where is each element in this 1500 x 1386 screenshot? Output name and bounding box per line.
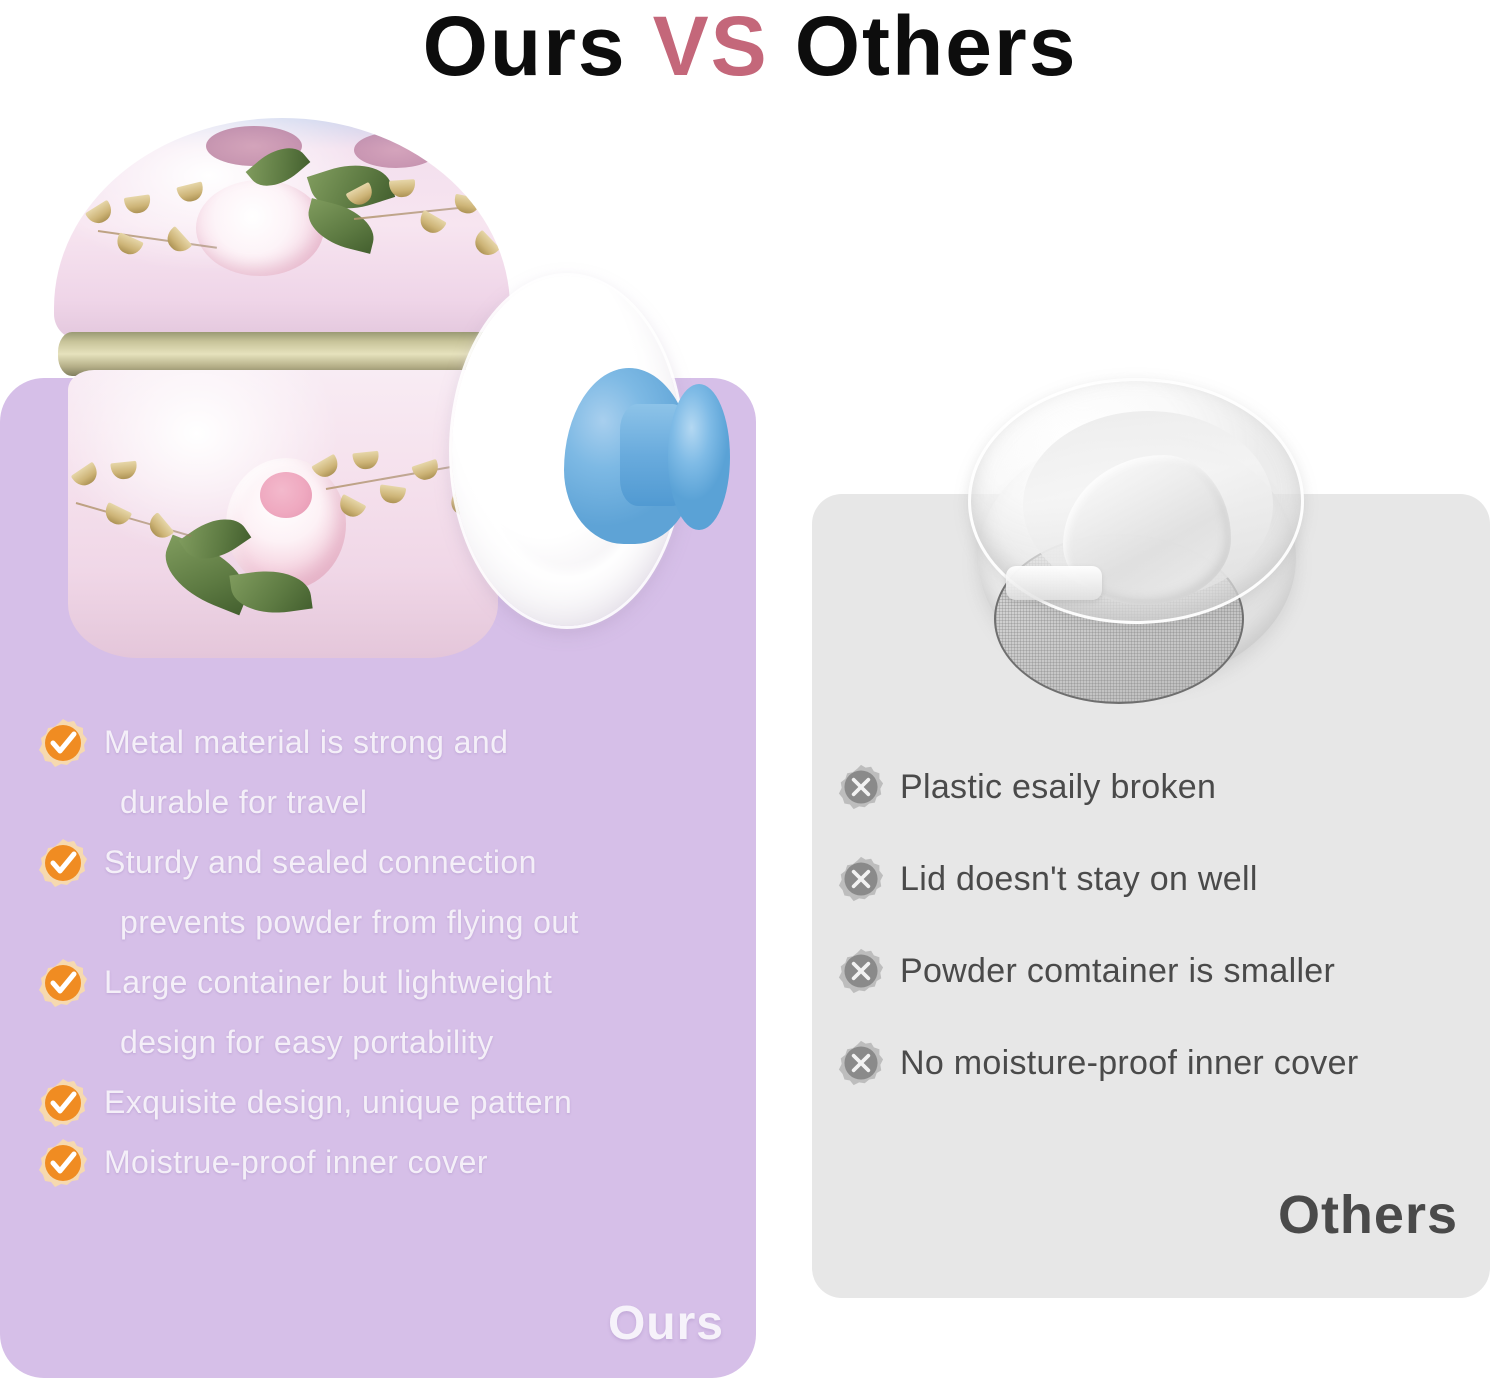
gold-fan-motif [101, 502, 132, 529]
check-badge-icon [38, 958, 88, 1008]
list-item-label: No moisture-proof inner cover [900, 1044, 1358, 1082]
list-item-line1: Exquisite design, unique pattern [104, 1084, 572, 1120]
gold-fan-motif [85, 200, 116, 228]
stem [76, 502, 192, 537]
list-item-label: Powder comtainer is smaller [900, 952, 1335, 990]
title-others: Others [795, 0, 1078, 93]
plastic-lid-tab [1006, 566, 1102, 600]
check-badge-icon [38, 1138, 88, 1188]
list-item-label: Lid doesn't stay on well [900, 860, 1258, 898]
list-item: Powder comtainer is smaller [838, 946, 1468, 996]
title-vs: VS [653, 0, 769, 93]
gold-fan-motif [470, 230, 500, 261]
cross-badge-icon [838, 856, 884, 902]
list-item: Metal material is strong and durable for… [38, 712, 738, 832]
others-product-image [960, 372, 1320, 712]
check-badge-icon [38, 1078, 88, 1128]
comparison-infographic: OursVSOthers [0, 0, 1500, 1386]
check-badge-icon [38, 838, 88, 888]
powder-puff-image [452, 276, 752, 648]
ours-footer-label: Ours [0, 1296, 724, 1351]
cross-badge-icon [838, 764, 884, 810]
list-item: Lid doesn't stay on well [838, 854, 1468, 904]
gold-fan-motif [352, 451, 380, 471]
list-item: Moistrue-proof inner cover [38, 1132, 738, 1192]
list-item: Sturdy and sealed connection prevents po… [38, 832, 738, 952]
gold-fan-motif [452, 194, 481, 216]
list-item-line2: design for easy portability [104, 1012, 738, 1072]
list-item-line1: Moistrue-proof inner cover [104, 1144, 488, 1180]
list-item-line2: durable for travel [104, 772, 738, 832]
gold-fan-motif [411, 459, 441, 483]
list-item: Plastic esaily broken [838, 762, 1468, 812]
cross-badge-icon [838, 1040, 884, 1086]
gold-fan-motif [71, 462, 102, 491]
ours-product-image [46, 118, 516, 658]
cross-badge-icon [838, 948, 884, 994]
list-item-line2: prevents powder from flying out [104, 892, 738, 952]
tin-lid [54, 118, 510, 340]
list-item: Exquisite design, unique pattern [38, 1072, 738, 1132]
gold-fan-motif [378, 484, 406, 504]
gold-fan-motif [110, 461, 138, 481]
list-item-line1: Large container but lightweight [104, 964, 552, 1000]
others-drawback-list: Plastic esaily broken Lid doesn't stay o… [838, 762, 1468, 1130]
list-item: No moisture-proof inner cover [838, 1038, 1468, 1088]
puff-handle-top [668, 384, 730, 530]
list-item-line1: Sturdy and sealed connection [104, 844, 537, 880]
list-item-label: Plastic esaily broken [900, 768, 1216, 806]
ours-feature-list: Metal material is strong and durable for… [38, 712, 738, 1192]
title-ours: Ours [423, 0, 627, 93]
rose-center [260, 472, 312, 518]
gold-fan-motif [162, 226, 192, 257]
list-item: Large container but lightweight design f… [38, 952, 738, 1072]
tin-body [68, 370, 498, 658]
list-item-line1: Metal material is strong and [104, 724, 508, 760]
check-badge-icon [38, 718, 88, 768]
page-title: OursVSOthers [0, 0, 1500, 96]
lid-rose [196, 180, 324, 276]
others-footer-label: Others [812, 1184, 1458, 1246]
lid-rose-accent-right [354, 132, 438, 168]
gold-fan-motif [416, 210, 447, 238]
gold-fan-motif [176, 181, 205, 204]
gold-fan-motif [124, 194, 152, 214]
